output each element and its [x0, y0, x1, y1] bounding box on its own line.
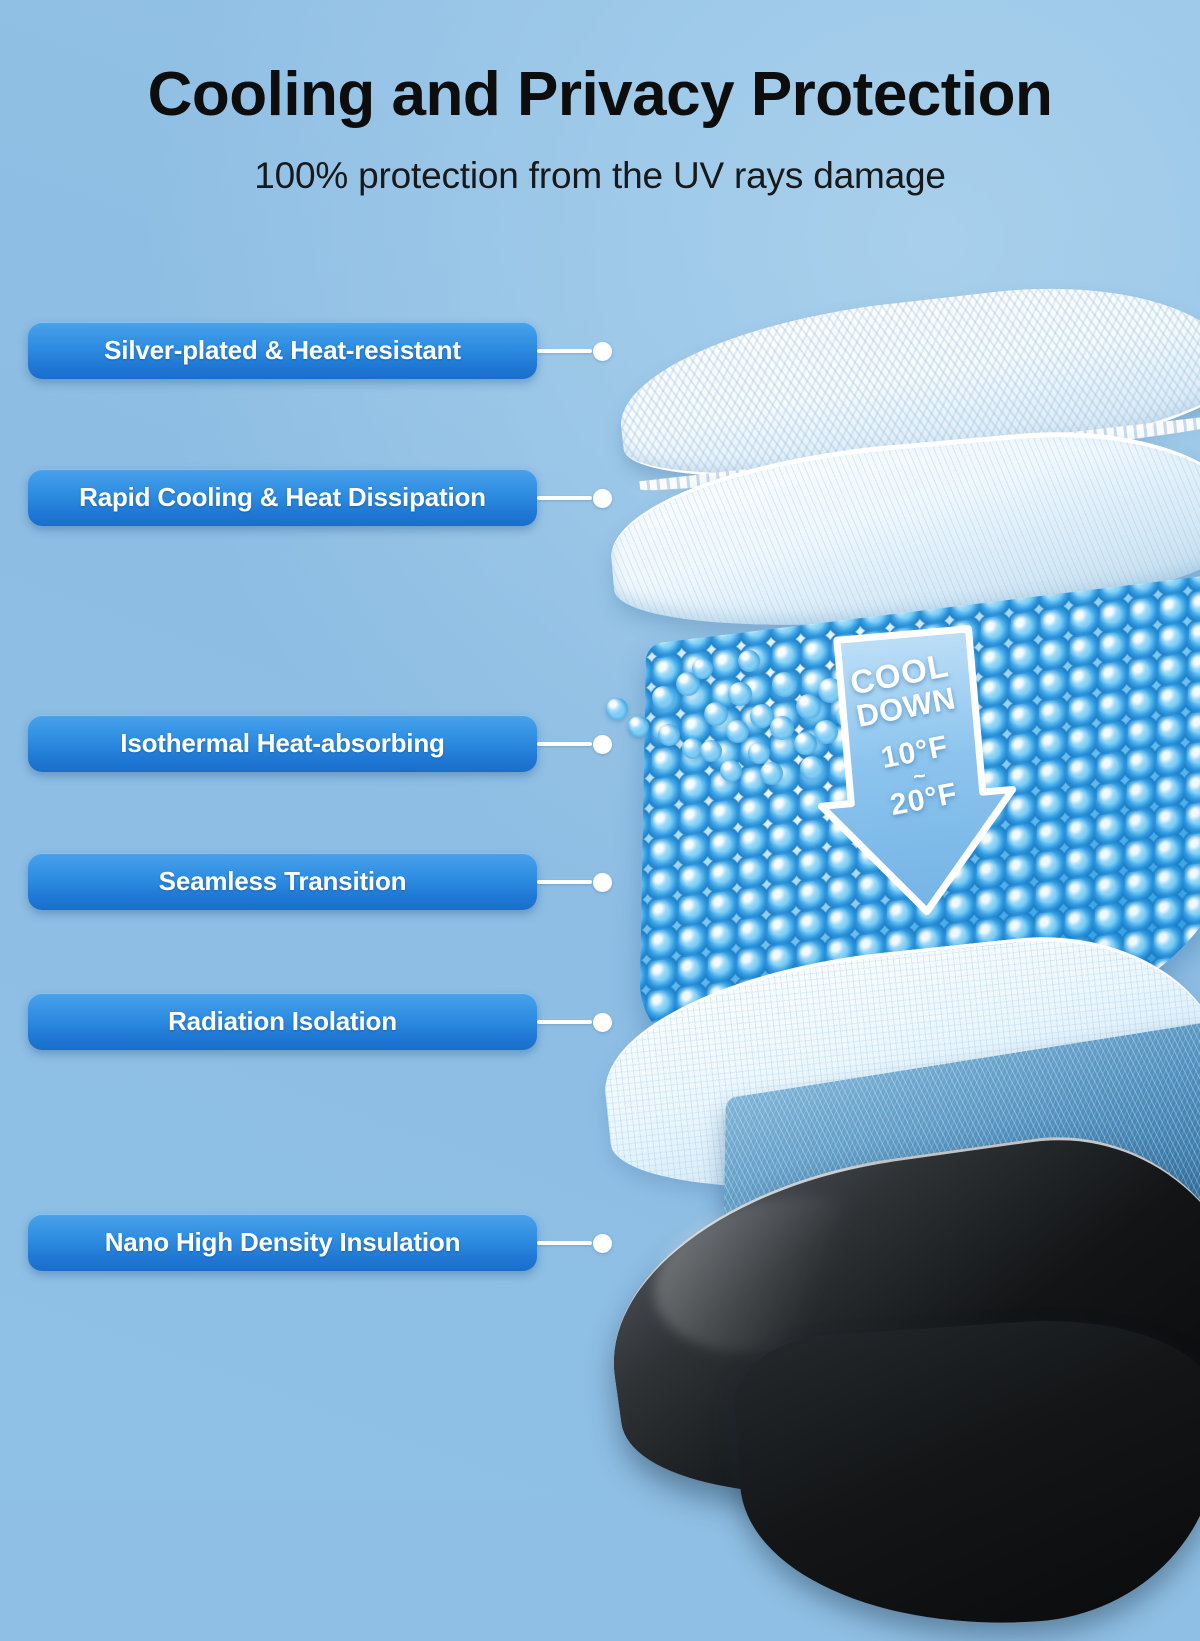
- feature-connector-dot: [593, 342, 612, 361]
- floating-bubble: [748, 742, 770, 764]
- page-title: Cooling and Privacy Protection: [0, 62, 1200, 127]
- feature-pill[interactable]: Seamless Transition: [28, 853, 537, 910]
- feature-connector-line: [537, 349, 592, 353]
- floating-bubble: [700, 740, 722, 762]
- infographic-canvas: Cooling and Privacy Protection 100% prot…: [0, 0, 1200, 1500]
- feature-connector-line: [537, 1020, 592, 1024]
- feature-connector-line: [537, 1241, 592, 1245]
- floating-bubble: [704, 702, 728, 726]
- feature-connector-dot: [593, 489, 612, 508]
- page-subtitle: 100% protection from the UV rays damage: [0, 155, 1200, 197]
- floating-bubble: [606, 698, 628, 720]
- floating-bubble: [726, 720, 749, 743]
- down-arrow-icon: [803, 622, 1028, 928]
- feature-pill-label: Nano High Density Insulation: [105, 1227, 461, 1258]
- insulation-layer-shadow: [730, 1309, 1200, 1641]
- floating-bubble: [652, 686, 675, 709]
- floating-bubble: [738, 650, 760, 672]
- floating-bubble: [658, 724, 680, 746]
- floating-bubble: [770, 716, 794, 740]
- feature-pill[interactable]: Rapid Cooling & Heat Dissipation: [28, 469, 537, 526]
- cool-down-arrow: COOL DOWN 10°F ~ 20°F: [803, 622, 1028, 928]
- floating-bubble: [720, 760, 742, 782]
- feature-pill[interactable]: Radiation Isolation: [28, 993, 537, 1050]
- feature-connector-line: [537, 496, 592, 500]
- feature-connector-dot: [593, 1013, 612, 1032]
- feature-connector-dot: [593, 873, 612, 892]
- floating-bubble: [760, 762, 783, 785]
- feature-pill-label: Rapid Cooling & Heat Dissipation: [79, 482, 486, 513]
- feature-connector-line: [537, 880, 592, 884]
- feature-pill-label: Isothermal Heat-absorbing: [120, 728, 444, 759]
- feature-pill[interactable]: Isothermal Heat-absorbing: [28, 715, 537, 772]
- floating-bubble: [628, 716, 649, 737]
- feature-pill-label: Silver-plated & Heat-resistant: [104, 335, 461, 366]
- feature-connector-line: [537, 742, 592, 746]
- feature-connector-dot: [593, 735, 612, 754]
- floating-bubble: [728, 682, 752, 706]
- feature-connector-dot: [593, 1234, 612, 1253]
- feature-pill[interactable]: Silver-plated & Heat-resistant: [28, 322, 537, 379]
- floating-bubble: [772, 672, 797, 697]
- floating-bubble: [692, 658, 713, 679]
- product-layer-illustration: COOL DOWN 10°F ~ 20°F: [600, 250, 1200, 1500]
- feature-pill-label: Radiation Isolation: [168, 1006, 397, 1037]
- feature-pill[interactable]: Nano High Density Insulation: [28, 1214, 537, 1271]
- feature-pill-label: Seamless Transition: [159, 866, 407, 897]
